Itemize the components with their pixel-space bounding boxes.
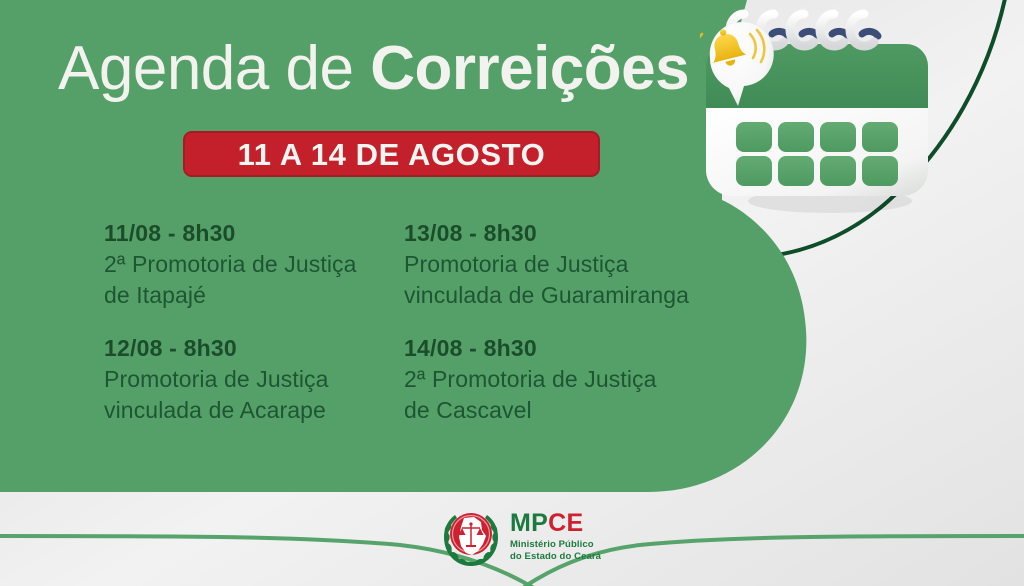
entry-body: 2ª Promotoria de Justiça de Itapajé [104, 249, 404, 311]
title-bold-part: Correições [370, 34, 689, 103]
entry-line-2: vinculada de Guaramiranga [404, 280, 744, 311]
mpce-emblem-icon [440, 506, 502, 568]
date-range-badge: 11 A 14 DE AGOSTO [183, 131, 600, 177]
schedule-entry: 14/08 - 8h30 2ª Promotoria de Justiça de… [404, 333, 744, 426]
mpce-logo-text: MPCE Ministério Público do Estado do Cea… [510, 511, 601, 563]
entry-line-2: vinculada de Acarape [104, 395, 404, 426]
entry-date: 11/08 - 8h30 [104, 218, 404, 249]
page-title: Agenda de Correições [58, 38, 689, 100]
schedule-entry: 11/08 - 8h30 2ª Promotoria de Justiça de… [104, 218, 404, 311]
mpce-subtitle-line-1: Ministério Público [510, 539, 601, 551]
calendar-icon [700, 0, 950, 226]
entry-line-1: Promotoria de Justiça [404, 249, 744, 280]
entry-body: Promotoria de Justiça vinculada de Acara… [104, 364, 404, 426]
entry-body: Promotoria de Justiça vinculada de Guara… [404, 249, 744, 311]
entry-date: 12/08 - 8h30 [104, 333, 404, 364]
title-light-part: Agenda de [58, 34, 370, 103]
entry-line-1: Promotoria de Justiça [104, 364, 404, 395]
entry-date: 14/08 - 8h30 [404, 333, 744, 364]
mpce-wordmark-ce: CE [548, 509, 583, 537]
mpce-subtitle: Ministério Público do Estado do Ceará [510, 539, 601, 563]
entry-line-2: de Cascavel [404, 395, 744, 426]
entry-body: 2ª Promotoria de Justiça de Cascavel [404, 364, 744, 426]
entry-line-2: de Itapajé [104, 280, 404, 311]
mpce-wordmark: MPCE [510, 511, 601, 536]
entry-date: 13/08 - 8h30 [404, 218, 744, 249]
entry-line-1: 2ª Promotoria de Justiça [104, 249, 404, 280]
date-range-label: 11 A 14 DE AGOSTO [238, 139, 546, 170]
schedule-entry: 12/08 - 8h30 Promotoria de Justiça vincu… [104, 333, 404, 426]
entry-line-1: 2ª Promotoria de Justiça [404, 364, 744, 395]
mpce-subtitle-line-2: do Estado do Ceará [510, 551, 601, 563]
poster-canvas: Agenda de Correições 11 A 14 DE AGOSTO 1… [0, 0, 1024, 586]
mpce-logo: MPCE Ministério Público do Estado do Cea… [440, 506, 601, 568]
schedule-list: 11/08 - 8h30 2ª Promotoria de Justiça de… [104, 218, 744, 425]
schedule-entry: 13/08 - 8h30 Promotoria de Justiça vincu… [404, 218, 744, 311]
mpce-wordmark-mp: MP [510, 509, 548, 537]
